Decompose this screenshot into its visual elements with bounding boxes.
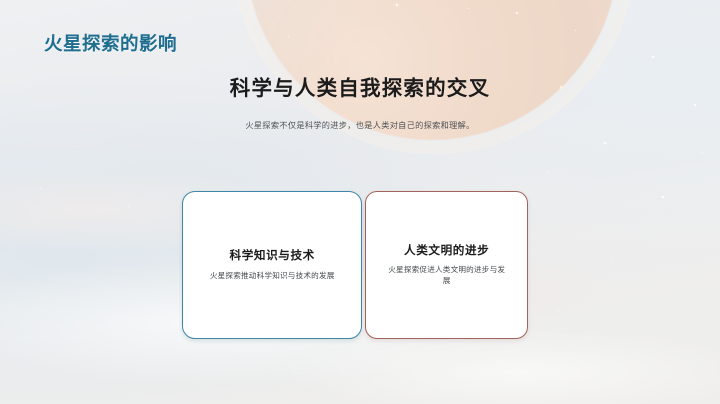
- card-group: 科学知识与技术 火星探索推动科学知识与技术的发展 人类文明的进步 火星探索促进人…: [182, 191, 528, 339]
- headline-block: 科学与人类自我探索的交叉 火星探索不仅是科学的进步，也是人类对自己的探索和理解。: [0, 76, 720, 131]
- card-title: 人类文明的进步: [404, 244, 489, 258]
- slide-headline: 科学与人类自我探索的交叉: [0, 76, 720, 103]
- presentation-slide: 火星探索的影响 科学与人类自我探索的交叉 火星探索不仅是科学的进步，也是人类对自…: [0, 0, 720, 404]
- card-title: 科学知识与技术: [230, 249, 315, 263]
- card-description: 火星探索推动科学知识与技术的发展: [210, 270, 335, 281]
- content-card-civilization[interactable]: 人类文明的进步 火星探索促进人类文明的进步与发展: [365, 191, 528, 339]
- slide-subheadline: 火星探索不仅是科学的进步，也是人类对自己的探索和理解。: [0, 120, 720, 131]
- content-card-science[interactable]: 科学知识与技术 火星探索推动科学知识与技术的发展: [182, 191, 362, 339]
- card-description: 火星探索促进人类文明的进步与发展: [388, 264, 506, 286]
- slide-eyebrow-title: 火星探索的影响: [44, 30, 177, 56]
